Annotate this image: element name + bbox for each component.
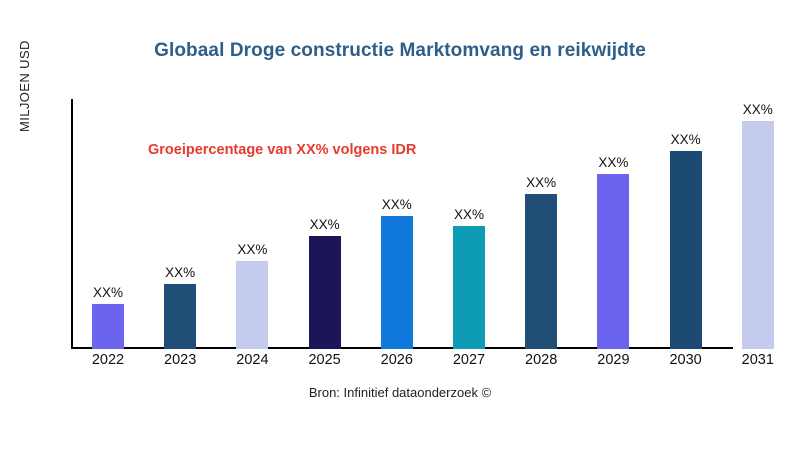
bar-group: XX% <box>217 99 287 349</box>
bar[interactable] <box>381 216 413 349</box>
bar-group: XX% <box>362 99 432 349</box>
bar-value-label: XX% <box>578 155 648 170</box>
bar-group: XX% <box>73 99 143 349</box>
bar-group: XX% <box>434 99 504 349</box>
x-axis-tick-label: 2031 <box>723 352 793 368</box>
x-axis-tick-label: 2027 <box>434 352 504 368</box>
bar[interactable] <box>525 194 557 349</box>
bar-value-label: XX% <box>651 132 721 147</box>
bar-value-label: XX% <box>506 175 576 190</box>
bar[interactable] <box>164 284 196 349</box>
bar-value-label: XX% <box>434 207 504 222</box>
x-axis-tick-label: 2029 <box>578 352 648 368</box>
bar-value-label: XX% <box>290 217 360 232</box>
bar-value-label: XX% <box>73 285 143 300</box>
bar-value-label: XX% <box>362 197 432 212</box>
bar[interactable] <box>670 151 702 349</box>
growth-rate-annotation: Groeipercentage van XX% volgens IDR <box>148 142 416 158</box>
chart-title: Globaal Droge constructie Marktomvang en… <box>0 40 800 62</box>
bar-group: XX% <box>578 99 648 349</box>
x-axis-tick-label: 2024 <box>217 352 287 368</box>
x-axis-tick-label: 2025 <box>290 352 360 368</box>
bar-chart: Globaal Droge constructie Marktomvang en… <box>0 0 800 450</box>
bar[interactable] <box>309 236 341 349</box>
bar-group: XX% <box>290 99 360 349</box>
x-axis-tick-label: 2022 <box>73 352 143 368</box>
bar[interactable] <box>92 304 124 349</box>
bar-value-label: XX% <box>217 242 287 257</box>
source-caption: Bron: Infinitief dataonderzoek © <box>0 385 800 400</box>
bar-group: XX% <box>723 99 793 349</box>
bar-value-label: XX% <box>723 102 793 117</box>
y-axis-title: MILJOEN USD <box>17 0 39 132</box>
bar[interactable] <box>742 121 774 349</box>
bar-group: XX% <box>145 99 215 349</box>
bar-group: XX% <box>506 99 576 349</box>
bar-value-label: XX% <box>145 265 215 280</box>
x-axis-tick-label: 2023 <box>145 352 215 368</box>
bar[interactable] <box>597 174 629 349</box>
x-axis-tick-label: 2030 <box>651 352 721 368</box>
bar[interactable] <box>453 226 485 349</box>
x-axis-tick-label: 2028 <box>506 352 576 368</box>
x-axis-tick-labels: 2022202320242025202620272028202920302031 <box>71 352 800 376</box>
plot-area: XX%XX%XX%XX%XX%XX%XX%XX%XX%XX% <box>71 99 800 349</box>
x-axis-tick-label: 2026 <box>362 352 432 368</box>
bar[interactable] <box>236 261 268 349</box>
bar-group: XX% <box>651 99 721 349</box>
